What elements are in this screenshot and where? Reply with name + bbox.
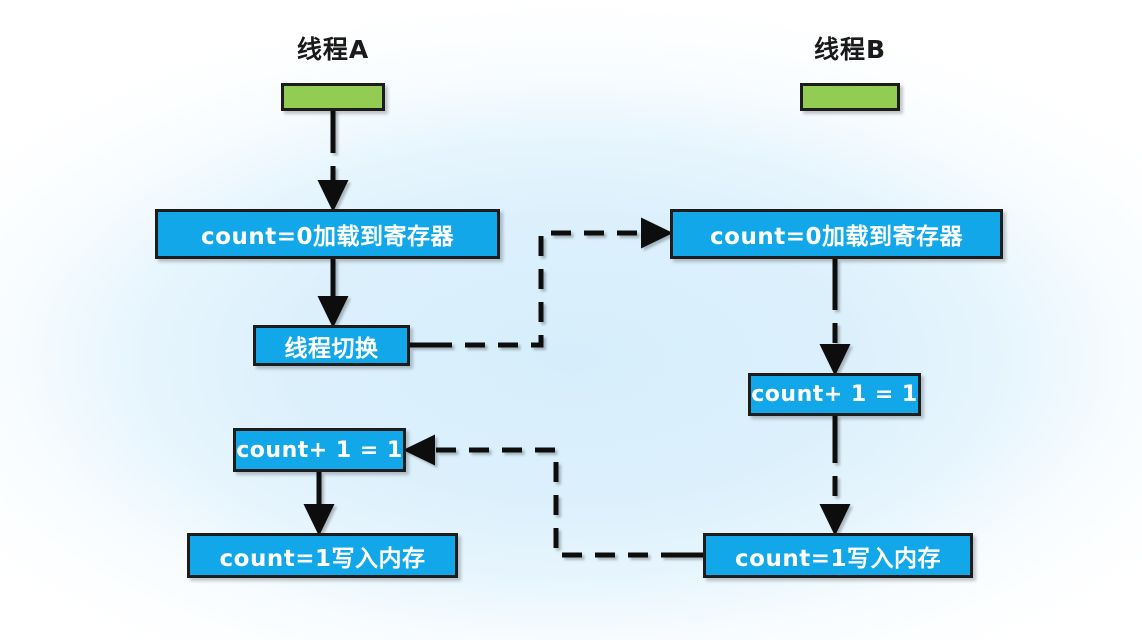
diagram-canvas: 线程A 线程B count=0加载到寄存器 线程切换 count+ 1 = 1 …: [0, 0, 1142, 640]
node-a-write[interactable]: count=1写入内存: [187, 533, 458, 578]
node-a-increment[interactable]: count+ 1 = 1: [233, 428, 406, 472]
node-b-increment[interactable]: count+ 1 = 1: [748, 373, 921, 416]
thread-b-start-node[interactable]: [800, 83, 900, 111]
thread-a-title: 线程A: [258, 30, 408, 66]
thread-b-title: 线程B: [775, 30, 925, 66]
node-a-load[interactable]: count=0加载到寄存器: [155, 209, 500, 259]
node-b-load[interactable]: count=0加载到寄存器: [670, 209, 1003, 259]
node-a-switch[interactable]: 线程切换: [253, 325, 410, 366]
thread-a-start-node[interactable]: [281, 83, 385, 111]
node-b-write[interactable]: count=1写入内存: [703, 533, 973, 578]
